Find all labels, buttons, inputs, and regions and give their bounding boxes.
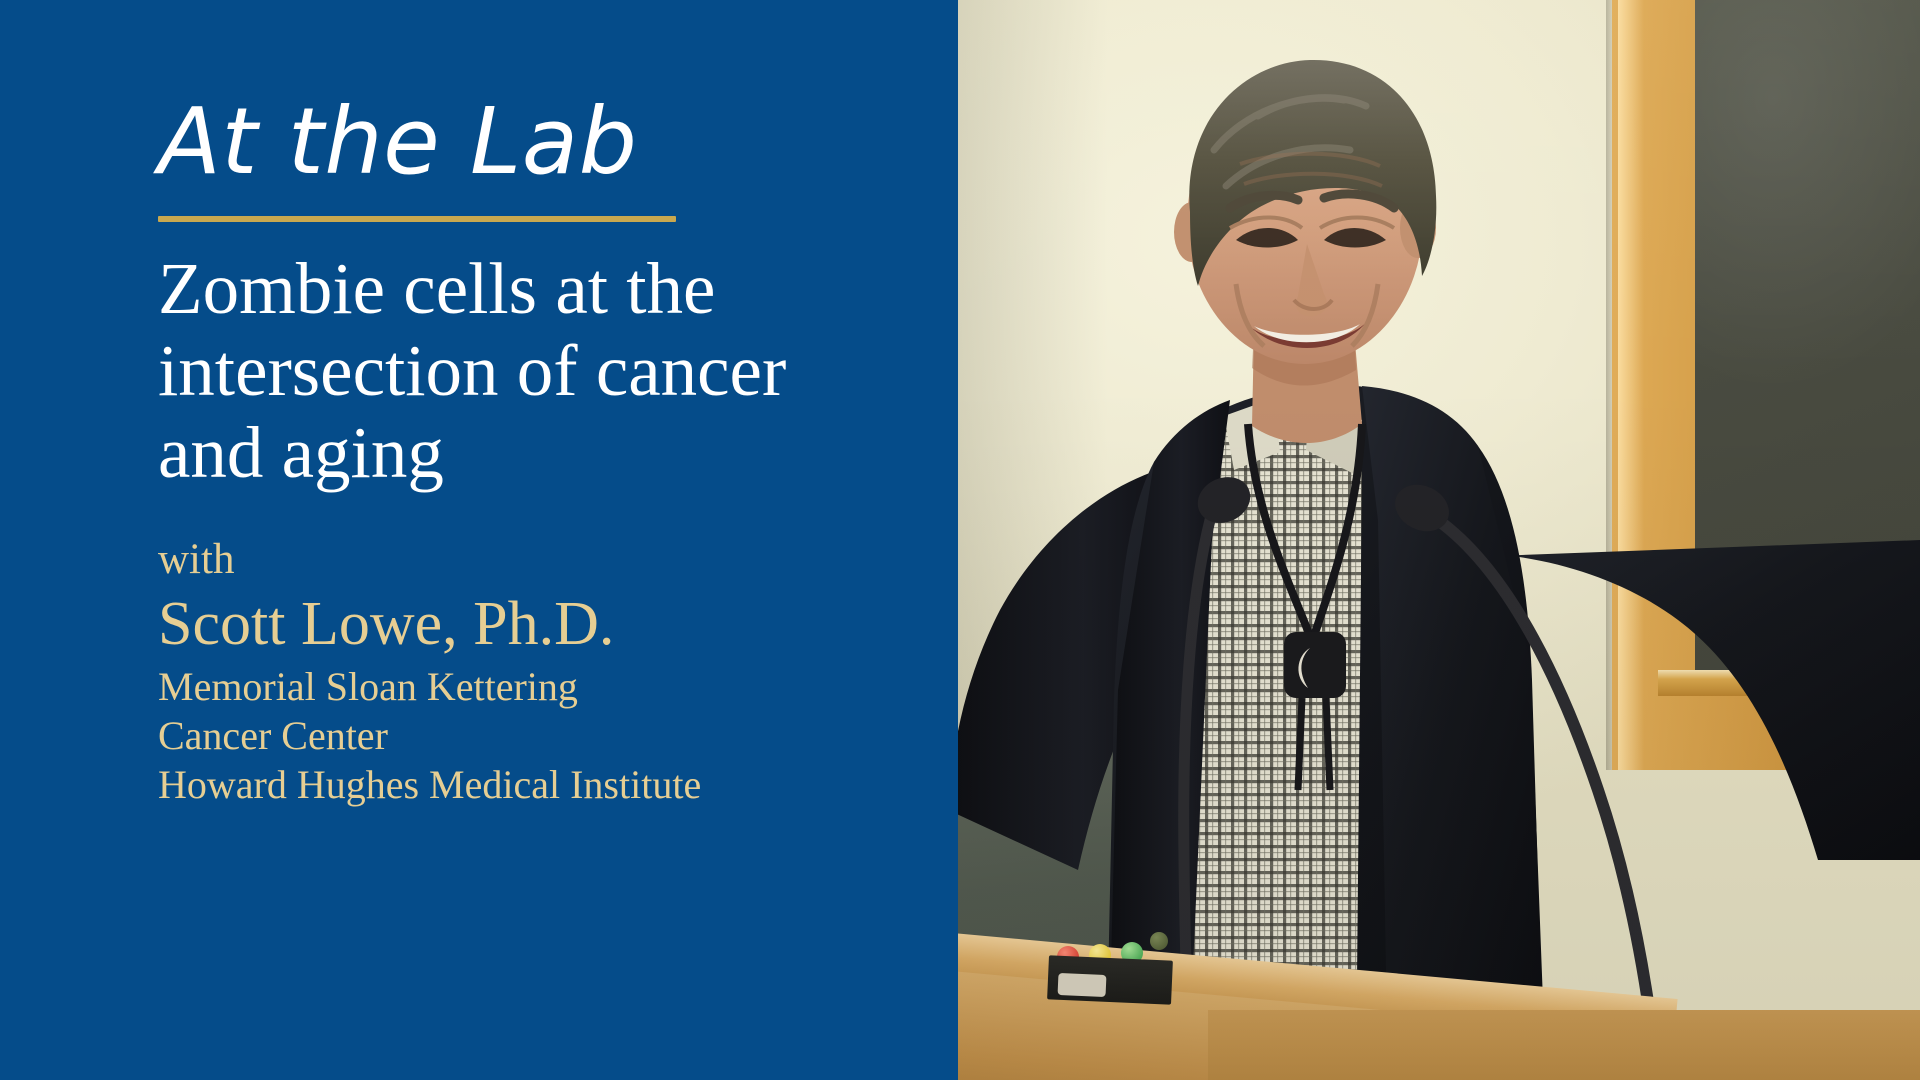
title-text-block: At the Lab Zombie cells at the intersect… [158,96,898,810]
gold-divider-rule [158,216,676,222]
tray-item-dark [1150,932,1168,950]
bolo-ornament [1284,632,1346,698]
bolo-tip-left [1298,698,1302,790]
podium-lower-wood [1208,1010,1920,1080]
slide-canvas: At the Lab Zombie cells at the intersect… [0,0,1920,1080]
tray-chalk [1058,973,1107,997]
speaker-affiliations: Memorial Sloan Kettering Cancer Center H… [158,663,898,809]
bolo-tip-right [1326,698,1330,790]
speaker-photo [958,0,1920,1080]
affiliation-line: Memorial Sloan Kettering [158,663,898,712]
speaker-figure [958,0,1920,1080]
talk-title: Zombie cells at the intersection of canc… [158,248,818,493]
speaker-name: Scott Lowe, Ph.D. [158,592,898,657]
affiliation-line: Cancer Center [158,712,898,761]
affiliation-line: Howard Hughes Medical Institute [158,761,898,810]
title-panel: At the Lab Zombie cells at the intersect… [0,0,958,1080]
with-label: with [158,537,898,582]
series-title: At the Lab [158,96,898,188]
